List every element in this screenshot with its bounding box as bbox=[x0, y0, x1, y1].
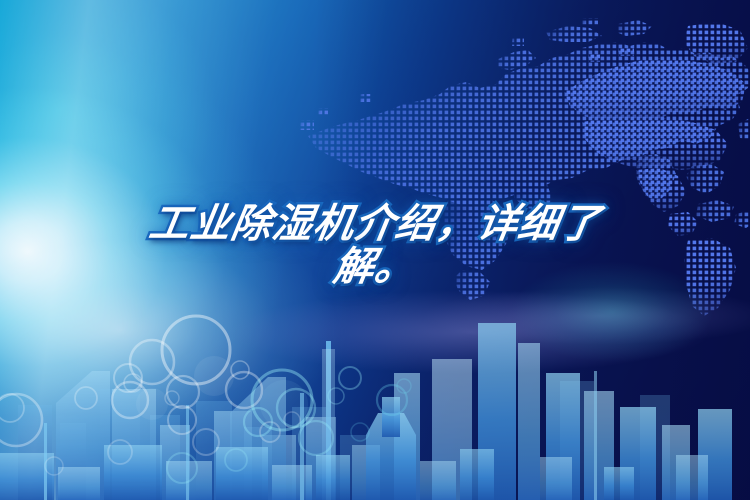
banner-title-line-2: 解。 bbox=[0, 247, 750, 288]
banner-image: 工业除湿机介绍，详细了 解。 bbox=[0, 0, 750, 500]
banner-title-line-1: 工业除湿机介绍，详细了 bbox=[0, 204, 750, 245]
banner-title: 工业除湿机介绍，详细了 解。 bbox=[0, 204, 750, 288]
